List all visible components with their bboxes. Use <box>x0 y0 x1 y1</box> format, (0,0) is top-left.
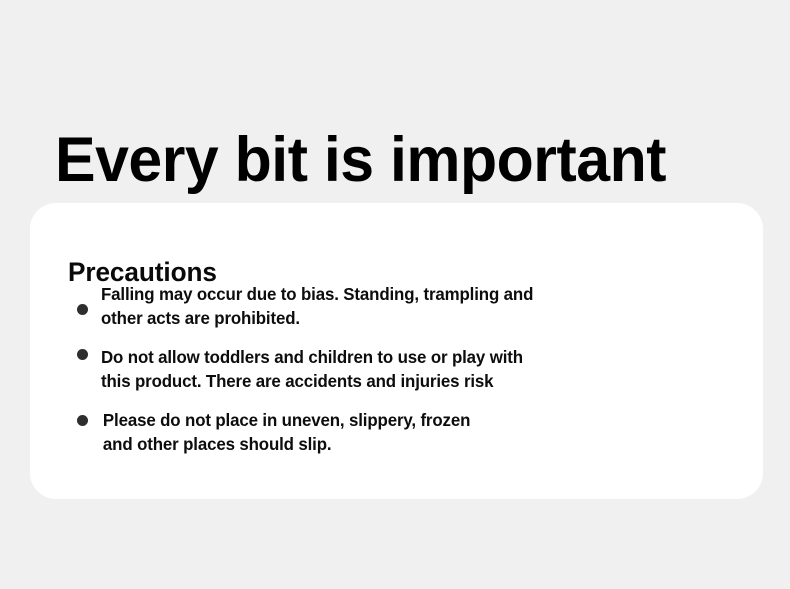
precaution-text-line: Please do not place in uneven, slippery,… <box>103 409 735 433</box>
precaution-text-line: other acts are prohibited. <box>101 307 735 331</box>
bullet-dot-icon <box>77 415 88 426</box>
precaution-list-item: Falling may occur due to bias. Standing,… <box>68 283 758 330</box>
precaution-list: Falling may occur due to bias. Standing,… <box>68 283 758 456</box>
precaution-list-item: Please do not place in uneven, slippery,… <box>68 409 758 456</box>
precautions-card: Precautions Falling may occur due to bia… <box>30 203 763 499</box>
bullet-dot-icon <box>77 349 88 360</box>
bullet-dot-icon <box>77 304 88 315</box>
precaution-text-line: and other places should slip. <box>103 433 735 457</box>
page-title: Every bit is important <box>55 121 731 199</box>
precaution-text-line: Falling may occur due to bias. Standing,… <box>101 283 735 307</box>
precaution-text: Falling may occur due to bias. Standing,… <box>101 283 735 330</box>
precaution-text-line: Do not allow toddlers and children to us… <box>101 346 735 370</box>
precaution-list-item: Do not allow toddlers and children to us… <box>68 346 758 393</box>
page-root: Every bit is important Precautions Falli… <box>0 0 790 589</box>
precaution-text-line: this product. There are accidents and in… <box>101 370 735 394</box>
precaution-text: Do not allow toddlers and children to us… <box>101 346 735 393</box>
precaution-text: Please do not place in uneven, slippery,… <box>101 409 735 456</box>
